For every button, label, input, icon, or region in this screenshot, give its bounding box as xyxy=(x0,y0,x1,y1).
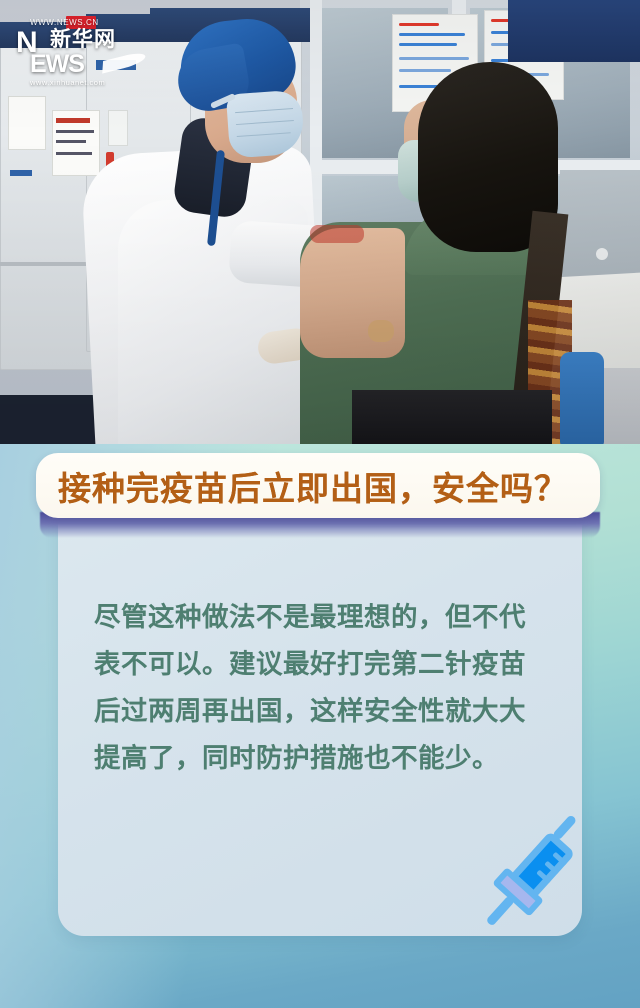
watermark-brand-cn: 新华网 xyxy=(50,28,116,52)
watermark-letters-ews: EWS xyxy=(30,52,84,77)
watermark-bottom-url: www.xinhuanet.com xyxy=(30,78,105,87)
watermark-swoosh-icon xyxy=(102,50,146,73)
xinhuanet-watermark: WWW.NEWS.CN N 新华网 EWS www.xinhuanet.com xyxy=(16,16,146,88)
page-title: 接种完疫苗后立即出国，安全吗？ xyxy=(58,462,568,510)
question-title-card: 接种完疫苗后立即出国，安全吗？ xyxy=(36,453,600,518)
answer-body: 尽管这种做法不是最理想的，但不代 表不可以。建议最好打完第二针疫苗 后过两周再出… xyxy=(94,594,546,782)
hero-photo: WWW.NEWS.CN N 新华网 EWS www.xinhuanet.com xyxy=(0,0,640,446)
watermark-top-url: WWW.NEWS.CN xyxy=(30,18,99,27)
answer-line: 后过两周再出国，这样安全性就大大 xyxy=(94,688,546,735)
syringe-needle-icon xyxy=(486,895,515,926)
poster-root: WWW.NEWS.CN N 新华网 EWS www.xinhuanet.com … xyxy=(0,0,640,1008)
answer-line: 提高了，同时防护措施也不能少。 xyxy=(94,735,546,782)
answer-line: 尽管这种做法不是最理想的，但不代 xyxy=(94,594,546,641)
answer-line: 表不可以。建议最好打完第二针疫苗 xyxy=(94,641,546,688)
